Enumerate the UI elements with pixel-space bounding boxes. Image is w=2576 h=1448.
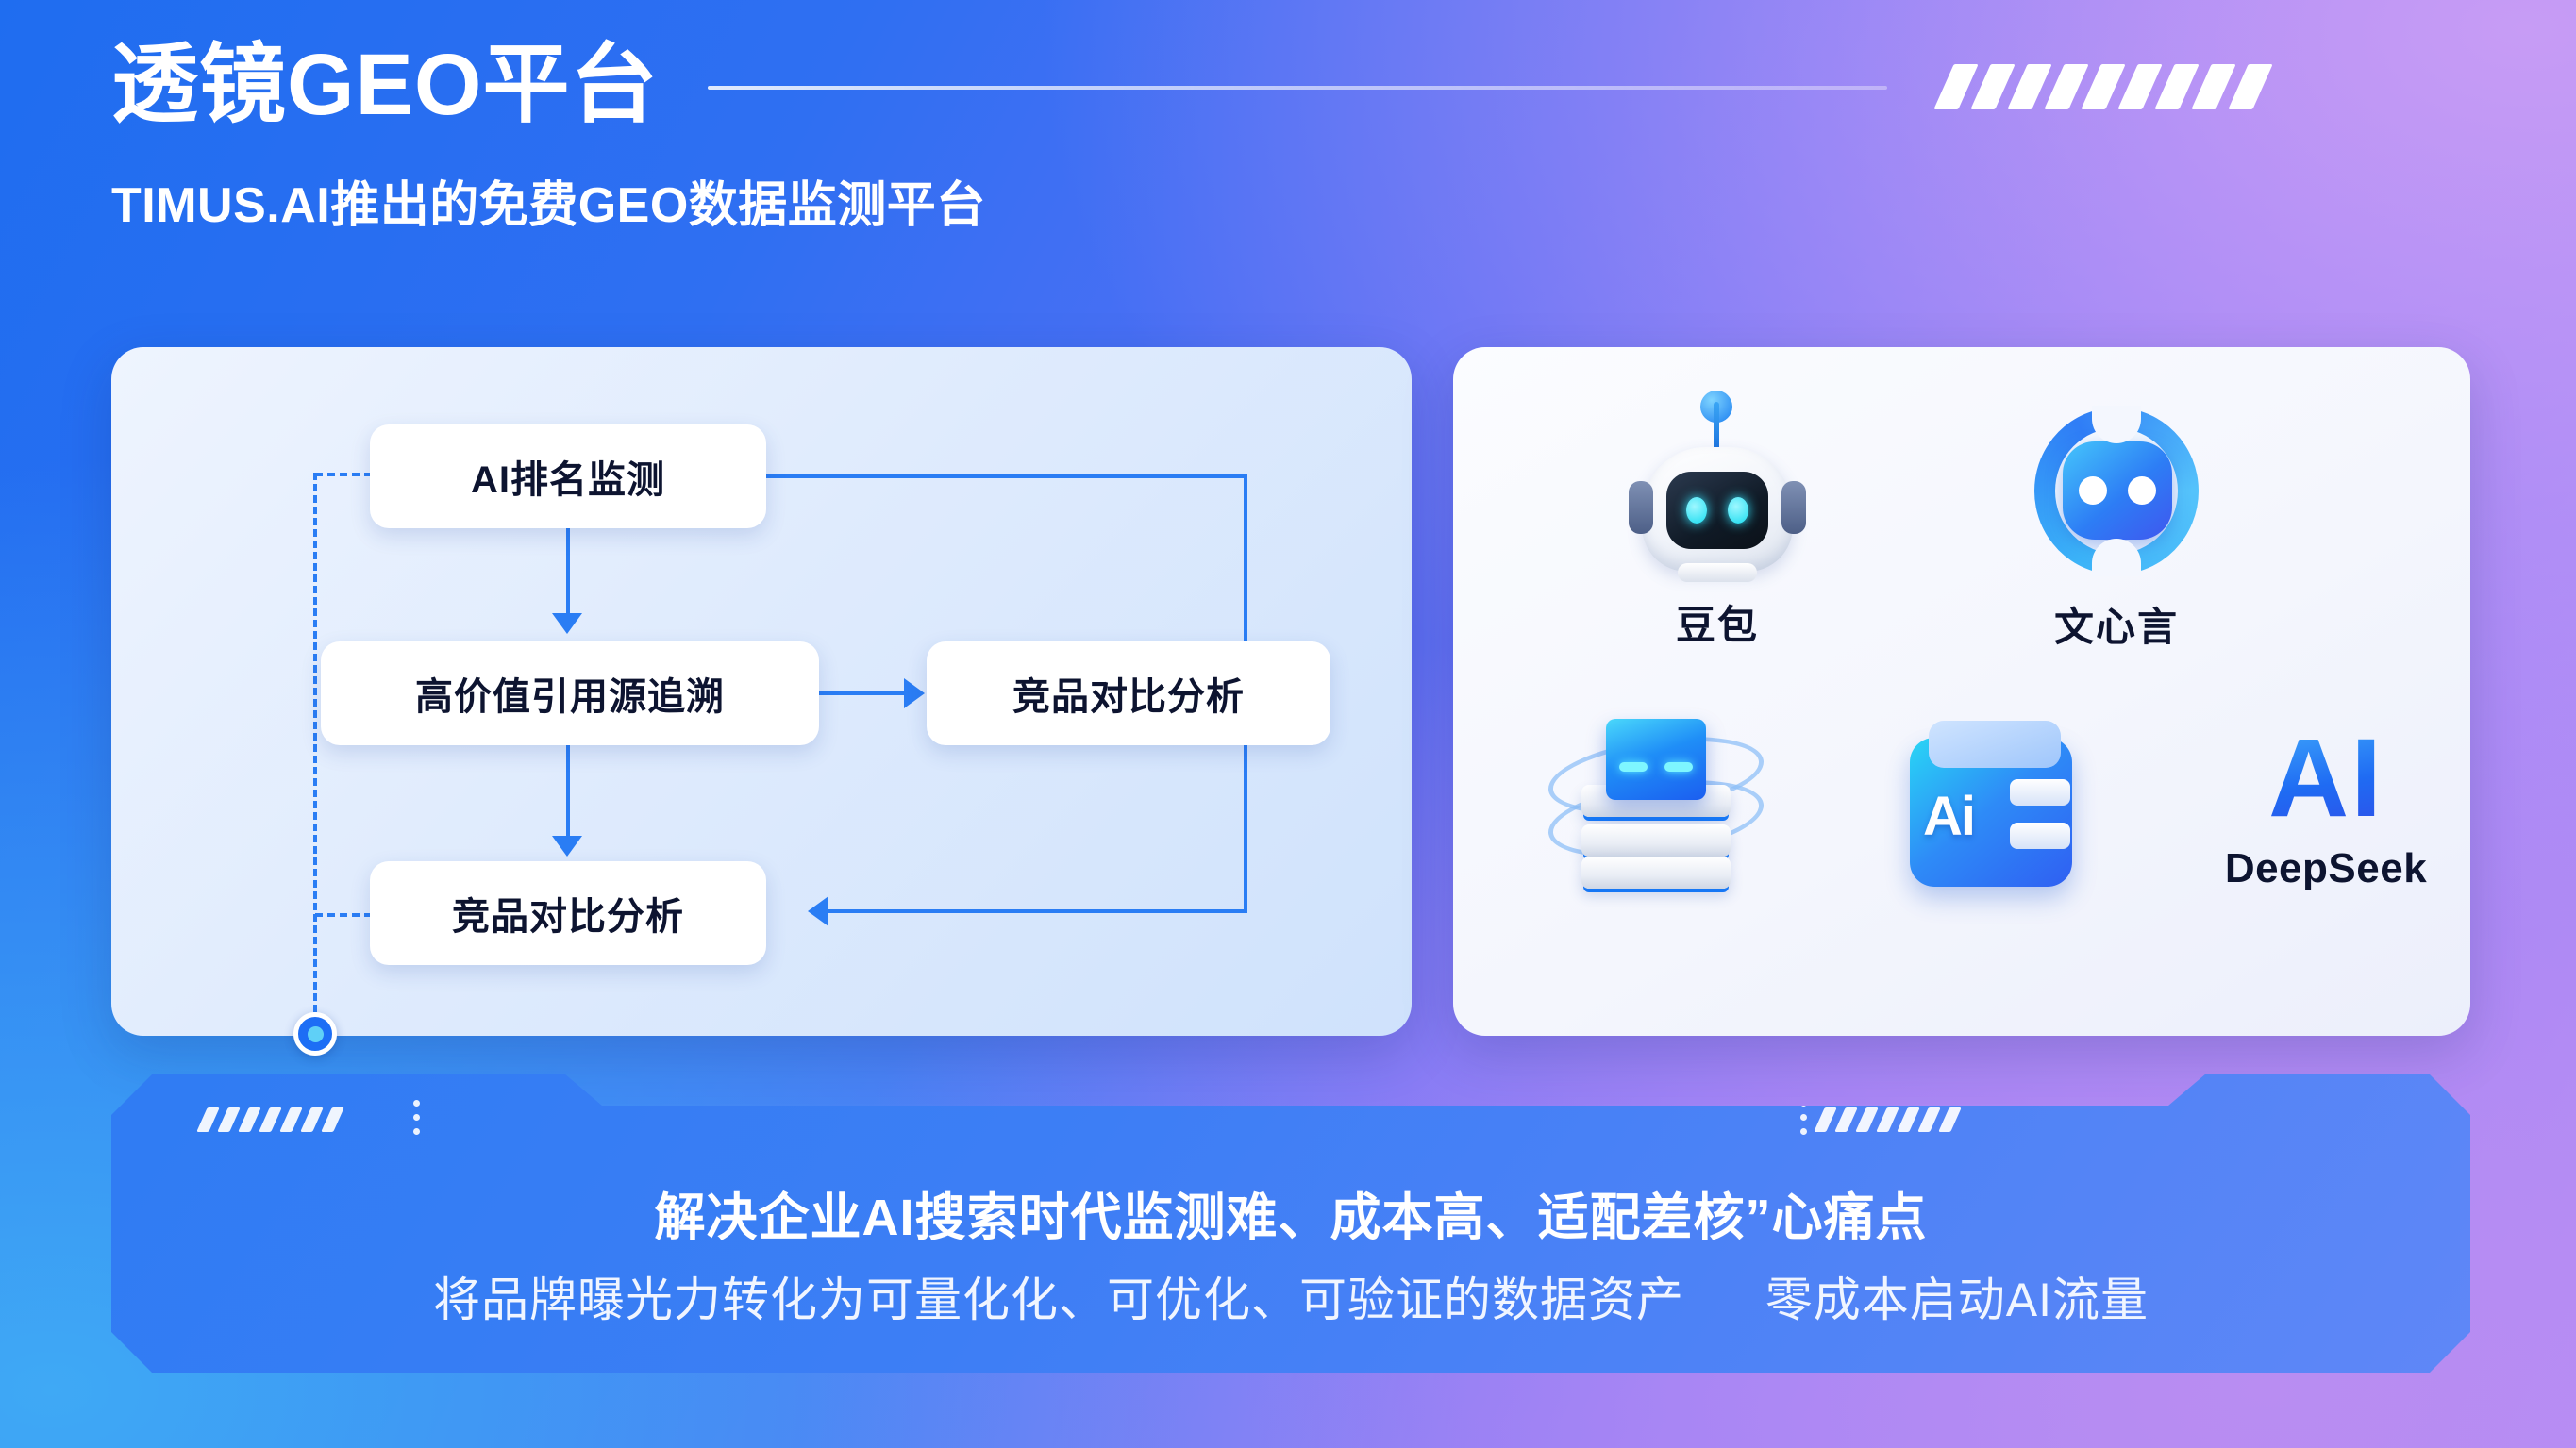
banner-stripes-left-decoration [202, 1107, 339, 1132]
flow-node-competitor-analysis-right[interactable]: 竞品对比分析 [927, 641, 1330, 745]
chat-bubble-face-icon [2027, 404, 2206, 578]
banner-subline: 将品牌曝光力转化为可量化化、可优化、可验证的数据资产 零成本启动AI流量 [111, 1262, 2470, 1330]
arrowhead-b-d [552, 836, 582, 857]
connector-b-c [819, 691, 906, 695]
dashed-left-upper [313, 473, 317, 1012]
dashed-top [315, 473, 372, 476]
logo-item-data-stack[interactable] [1547, 713, 1765, 892]
banner-dots-right-decoration [1800, 1100, 1807, 1135]
ai-platform-logos-panel: 豆包 文心言 [1453, 347, 2470, 1036]
banner-subline-right: 零成本启动AI流量 [1765, 1273, 2149, 1326]
flow-diagram-panel: AI排名监测 高价值引用源追溯 竞品对比分析 竞品对比分析 [111, 347, 1412, 1036]
title-row: 透镜GEO平台 [111, 40, 2470, 131]
dashed-bottom [315, 913, 372, 917]
header-stripes-decoration [1944, 64, 2263, 109]
title-rule-icon [708, 86, 1887, 90]
logo-label-wenxin: 文心言 [2054, 595, 2179, 653]
logo-item-wenxin[interactable]: 文心言 [2027, 404, 2206, 653]
page-subtitle: TIMUS.AI推出的免费GEO数据监测平台 [111, 165, 2470, 236]
flow-diagram: AI排名监测 高价值引用源追溯 竞品对比分析 竞品对比分析 [111, 347, 1412, 1036]
connector-a-b [566, 528, 570, 615]
banner-headline: 解决企业AI搜索时代监测难、成本高、适配差核”心痛点 [111, 1175, 2470, 1250]
robot-icon [1623, 402, 1812, 576]
page-header: 透镜GEO平台 TIMUS.AI推出的免费GEO数据监测平台 [111, 40, 2470, 236]
ai-cube-icon: Ai [1897, 717, 2085, 896]
value-proposition-banner: 解决企业AI搜索时代监测难、成本高、适配差核”心痛点 将品牌曝光力转化为可量化化… [111, 1074, 2470, 1373]
ai-cube-glyph: Ai [1923, 785, 1974, 848]
arrowhead-b-c [904, 678, 925, 708]
banner-stripes-right-decoration [1819, 1107, 1956, 1132]
connector-a-right [766, 474, 1247, 478]
logo-item-deepseek[interactable]: AI DeepSeek [2217, 723, 2434, 892]
data-stack-icon [1547, 713, 1765, 892]
logo-grid: 豆包 文心言 [1453, 347, 2470, 1036]
deepseek-glyph: AI [2268, 723, 2384, 834]
banner-subline-left: 将品牌曝光力转化为可量化化、可优化、可验证的数据资产 [433, 1273, 1684, 1326]
start-dot-icon [293, 1012, 337, 1056]
logo-label-deepseek: DeepSeek [2225, 845, 2427, 892]
arrowhead-to-d [808, 896, 828, 926]
logo-label-doubao: 豆包 [1676, 593, 1759, 651]
logo-item-ai-cube[interactable]: Ai [1897, 717, 2085, 896]
ai-wordmark-icon: AI DeepSeek [2217, 723, 2434, 892]
logo-item-doubao[interactable]: 豆包 [1623, 402, 1812, 651]
flow-node-citation-source[interactable]: 高价值引用源追溯 [321, 641, 819, 745]
arrowhead-a-b [552, 613, 582, 634]
page-title: 透镜GEO平台 [111, 40, 659, 131]
flow-node-ai-ranking[interactable]: AI排名监测 [370, 424, 766, 528]
connector-right-to-d [828, 909, 1247, 913]
flow-node-competitor-analysis-bottom[interactable]: 竞品对比分析 [370, 861, 766, 965]
banner-dots-left-decoration [413, 1100, 420, 1135]
connector-b-d [566, 745, 570, 840]
